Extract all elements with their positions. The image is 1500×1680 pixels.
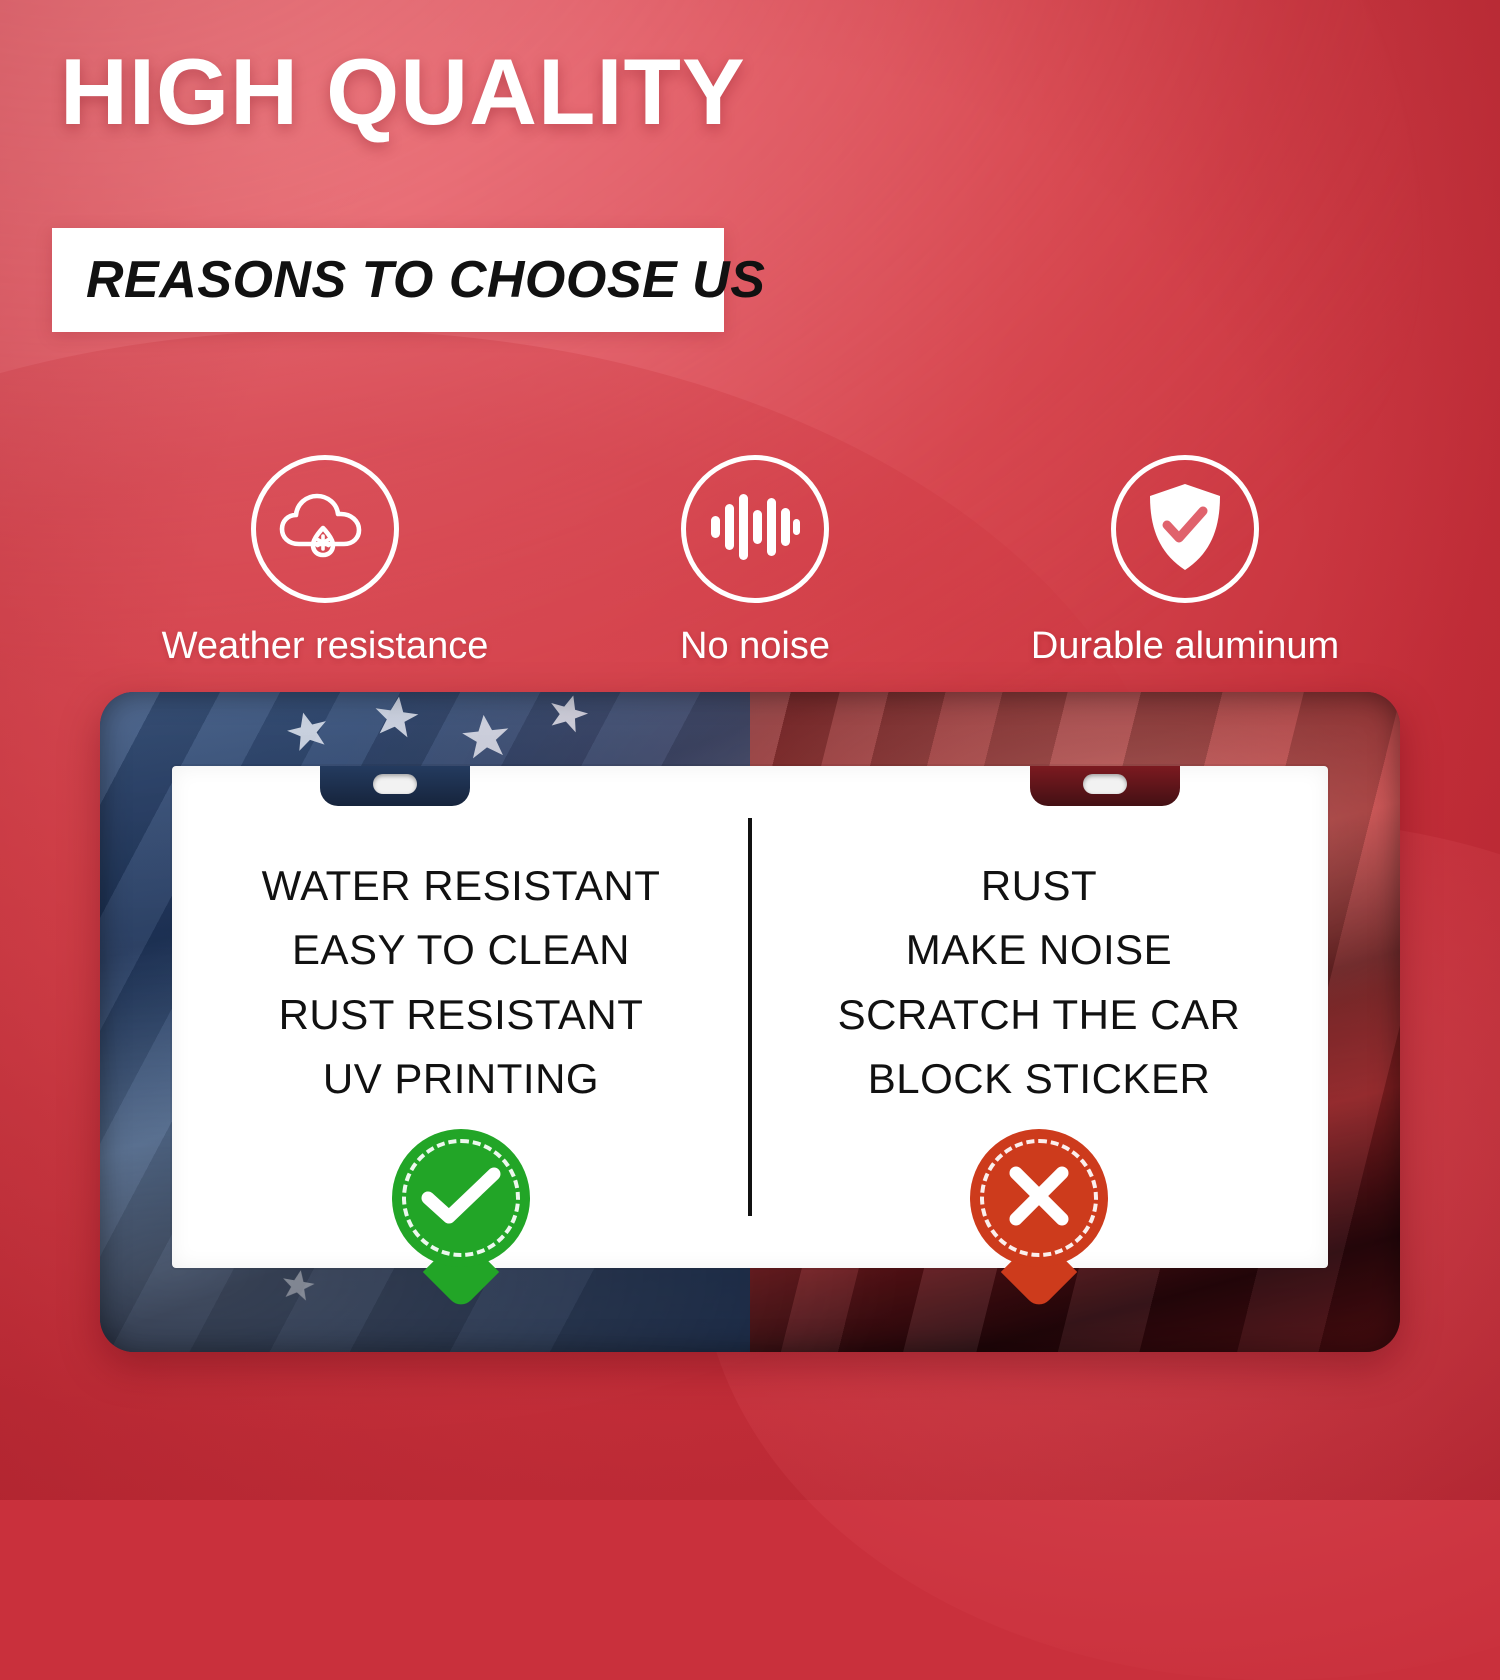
- cons-badge: [970, 1129, 1108, 1267]
- cons-item: BLOCK STICKER: [868, 1047, 1211, 1111]
- feature-icon-frame: [251, 455, 399, 603]
- pros-item: UV PRINTING: [323, 1047, 599, 1111]
- pin-circle: [970, 1129, 1108, 1267]
- plate-frame-body: WATER RESISTANT EASY TO CLEAN RUST RESIS…: [100, 692, 1400, 1352]
- feature-icon-frame: [1111, 455, 1259, 603]
- pros-item: RUST RESISTANT: [279, 983, 644, 1047]
- license-plate-frame-product: WATER RESISTANT EASY TO CLEAN RUST RESIS…: [100, 692, 1400, 1352]
- cons-item: RUST: [981, 854, 1097, 918]
- mounting-notch-left: [320, 766, 470, 806]
- shield-check-icon: [1145, 481, 1225, 578]
- feature-weather-resistance: Weather resistance: [110, 455, 540, 668]
- subheading-banner: REASONS TO CHOOSE US: [52, 228, 724, 332]
- feature-label: Weather resistance: [162, 625, 489, 668]
- cons-item: MAKE NOISE: [906, 918, 1172, 982]
- subheading-text: REASONS TO CHOOSE US: [52, 250, 765, 310]
- feature-no-noise: No noise: [540, 455, 970, 668]
- pros-badge: [392, 1129, 530, 1267]
- cons-item: SCRATCH THE CAR: [838, 983, 1241, 1047]
- check-mark-pin-icon: [420, 1165, 502, 1232]
- feature-durable-aluminum: Durable aluminum: [970, 455, 1400, 668]
- mounting-hole-right: [1083, 774, 1127, 794]
- feature-list: Weather resistance No noise: [110, 455, 1400, 668]
- mounting-hole-left: [373, 774, 417, 794]
- cross-mark-pin-icon: [1006, 1163, 1072, 1234]
- pros-column: WATER RESISTANT EASY TO CLEAN RUST RESIS…: [172, 854, 750, 1267]
- cons-column: RUST MAKE NOISE SCRATCH THE CAR BLOCK ST…: [750, 854, 1328, 1267]
- page-title: HIGH QUALITY: [60, 45, 746, 139]
- pros-item: WATER RESISTANT: [262, 854, 661, 918]
- cloud-water-drop-snowflake-icon: [277, 488, 373, 571]
- feature-label: Durable aluminum: [1031, 625, 1339, 668]
- sound-wave-icon: [709, 490, 801, 569]
- feature-label: No noise: [680, 625, 830, 668]
- pros-item: EASY TO CLEAN: [292, 918, 630, 982]
- plate-white-window: WATER RESISTANT EASY TO CLEAN RUST RESIS…: [172, 766, 1328, 1268]
- feature-icon-frame: [681, 455, 829, 603]
- pin-circle: [392, 1129, 530, 1267]
- mounting-notch-right: [1030, 766, 1180, 806]
